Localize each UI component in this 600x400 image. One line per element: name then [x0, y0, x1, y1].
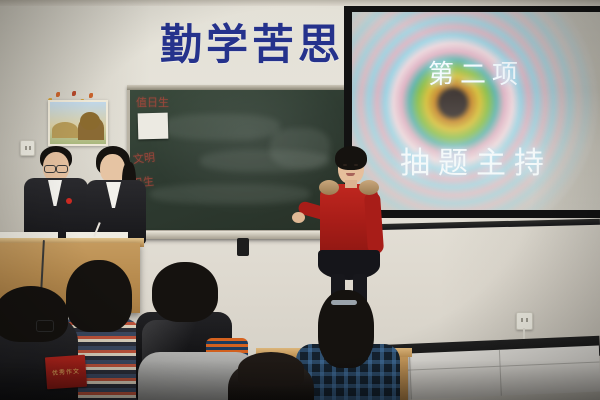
host-left-hand [292, 212, 305, 223]
leaf-icon [72, 91, 76, 96]
audience-front-right-hair [238, 352, 304, 386]
glasses-icon [56, 165, 68, 173]
judge-male-badge [66, 198, 72, 204]
socket-slot [526, 318, 528, 322]
hair-tie [331, 300, 357, 305]
floor-seam [499, 350, 502, 396]
socket-slot [521, 318, 523, 322]
wall-poster [48, 100, 108, 146]
audience-puffer-student-hair [152, 262, 218, 322]
red-book-title: 优秀作文 [52, 366, 81, 377]
host-neck [345, 180, 357, 188]
host-right-arm [364, 192, 384, 255]
host-eye-left [343, 164, 347, 166]
audience-striped-student-hair [66, 260, 132, 332]
chalk-smudge [160, 114, 280, 140]
classroom-photo: 勤学苦思 值日生 文明 卫生 第二项 抽题主持 [0, 0, 600, 400]
host-skirt [318, 250, 380, 280]
leaf-icon [89, 93, 93, 98]
chalk-smudge [150, 184, 310, 204]
host-fur-collar-left [319, 180, 339, 195]
chalk-text-duty: 值日生 [136, 96, 169, 109]
chalkboard-eraser [237, 238, 249, 256]
poster-tree [80, 112, 100, 130]
floor-seam [409, 353, 412, 399]
poster-hill [52, 122, 78, 138]
red-book: 优秀作文 [45, 355, 87, 390]
host-eye-right [354, 164, 358, 166]
host-fur-collar-right [359, 180, 379, 195]
chalkboard-paper-note [138, 113, 169, 140]
audience-glasses-student-hair [0, 286, 68, 342]
wall-slogan: 勤学苦思 [160, 22, 344, 68]
host-hair [335, 146, 367, 170]
person-judge-male [26, 146, 90, 246]
chalkboard-top-edge [127, 85, 349, 90]
glasses-icon [36, 320, 54, 332]
glasses-icon [44, 165, 56, 173]
leaf-icon [56, 92, 60, 97]
